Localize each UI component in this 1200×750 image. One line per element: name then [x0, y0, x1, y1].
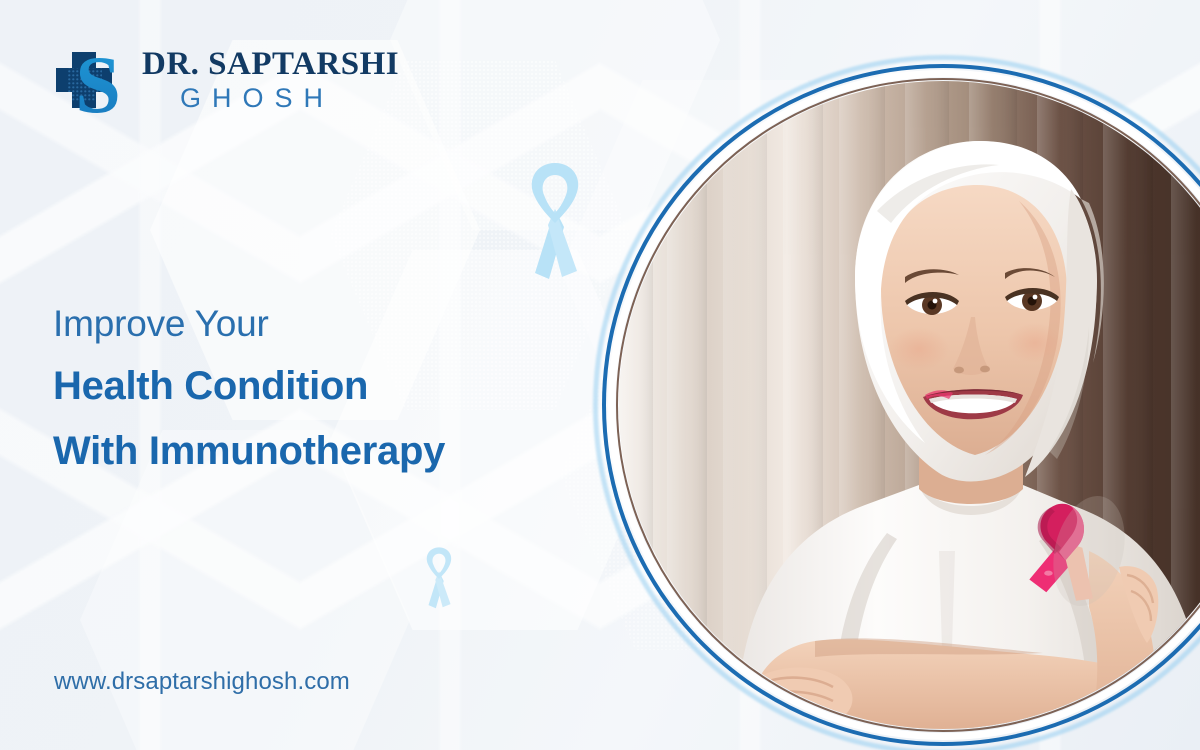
awareness-ribbon-icon [515, 155, 595, 280]
headline-line-1: Health Condition [53, 366, 573, 407]
photo-circle [598, 60, 1200, 750]
headline-line-2: With Immunotherapy [53, 431, 573, 472]
awareness-ribbon-icon [418, 543, 460, 609]
medical-cross-s-monogram-icon: S [52, 38, 136, 126]
svg-text:S: S [75, 39, 121, 126]
headline-block: Improve Your Health Condition With Immun… [53, 305, 573, 471]
brand-name-line2: GHOSH [180, 82, 399, 116]
headline-subline: Improve Your [53, 305, 573, 344]
brand-wordmark: DR. SAPTARSHI GHOSH [142, 48, 399, 115]
brand-name-line1: DR. SAPTARSHI [142, 48, 399, 82]
promo-banner: S DR. SAPTARSHI GHOSH Improve Your Healt… [0, 0, 1200, 750]
website-url[interactable]: www.drsaptarshighosh.com [54, 668, 350, 696]
brand-logo[interactable]: S DR. SAPTARSHI GHOSH [52, 38, 399, 126]
